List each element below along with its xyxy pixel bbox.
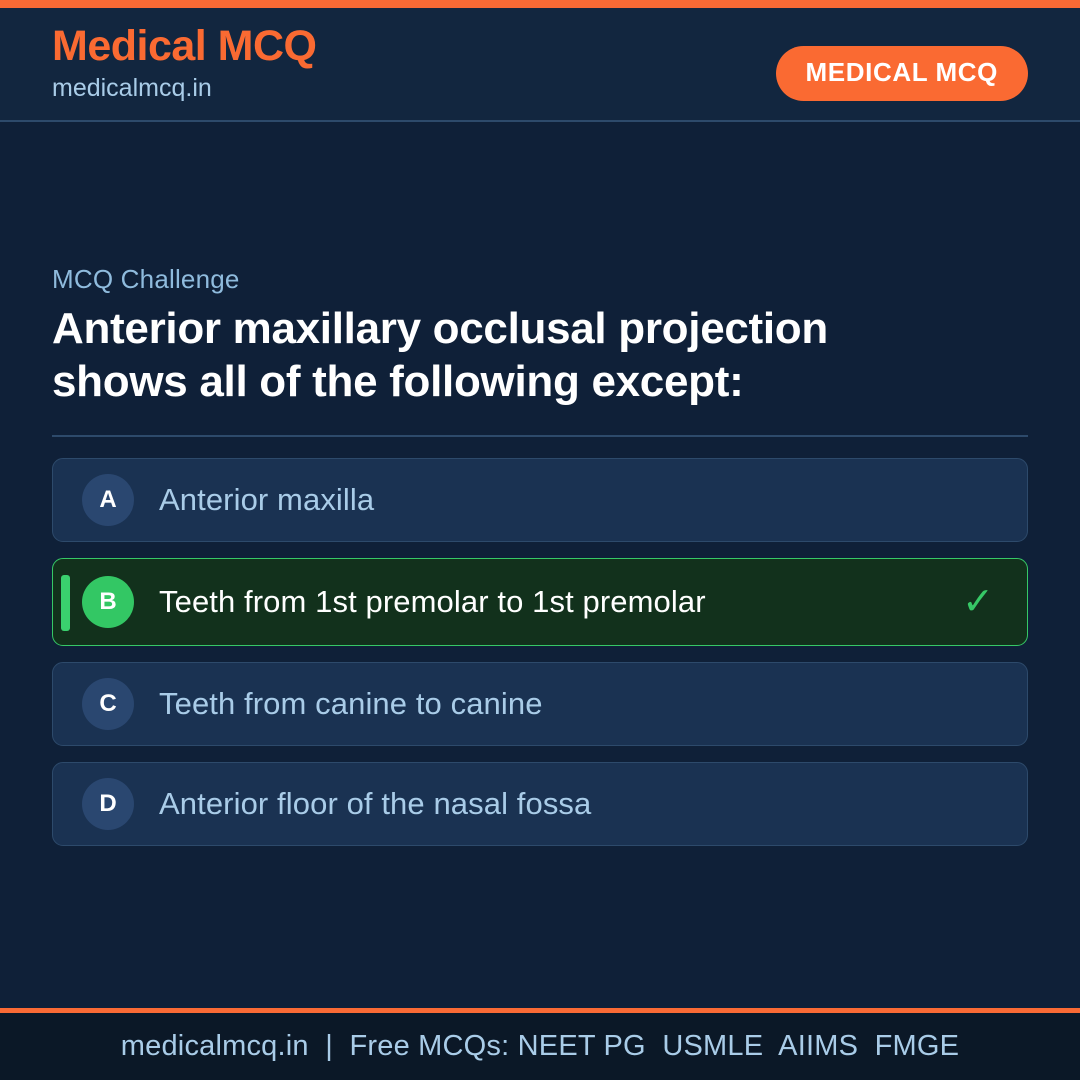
option-d-letter-badge: D	[82, 778, 134, 830]
option-a-label: Anterior maxilla	[159, 482, 374, 518]
brand-title: Medical MCQ	[52, 22, 317, 71]
main-content: MCQ Challenge Anterior maxillary occlusa…	[0, 124, 1080, 1008]
eyebrow-label: MCQ Challenge	[52, 264, 1028, 295]
page-header: Medical MCQ medicalmcq.in MEDICAL MCQ	[0, 8, 1080, 122]
option-a[interactable]: A Anterior maxilla	[52, 458, 1028, 542]
option-a-letter-badge: A	[82, 474, 134, 526]
option-d[interactable]: D Anterior floor of the nasal fossa	[52, 762, 1028, 846]
option-b-label: Teeth from 1st premolar to 1st premolar	[159, 584, 706, 620]
option-c-letter-badge: C	[82, 678, 134, 730]
options-list: A Anterior maxilla B Teeth from 1st prem…	[52, 458, 1028, 857]
question-block: MCQ Challenge Anterior maxillary occlusa…	[52, 264, 1028, 857]
footer-text: medicalmcq.in | Free MCQs: NEET PG USMLE…	[121, 1030, 959, 1063]
question-text: Anterior maxillary occlusal projection s…	[52, 303, 882, 409]
option-c[interactable]: C Teeth from canine to canine	[52, 662, 1028, 746]
brand-subtitle: medicalmcq.in	[52, 73, 317, 103]
brand-block: Medical MCQ medicalmcq.in	[52, 22, 317, 103]
page-footer: medicalmcq.in | Free MCQs: NEET PG USMLE…	[0, 1008, 1080, 1080]
option-c-label: Teeth from canine to canine	[159, 686, 543, 722]
option-d-label: Anterior floor of the nasal fossa	[159, 786, 591, 822]
option-b-letter-badge: B	[82, 576, 134, 628]
top-accent-bar	[0, 0, 1080, 8]
correct-accent-bar	[61, 575, 70, 631]
option-b[interactable]: B Teeth from 1st premolar to 1st premola…	[52, 558, 1028, 646]
header-badge: MEDICAL MCQ	[776, 46, 1028, 101]
checkmark-icon: ✓	[962, 583, 994, 621]
question-divider	[52, 435, 1028, 437]
